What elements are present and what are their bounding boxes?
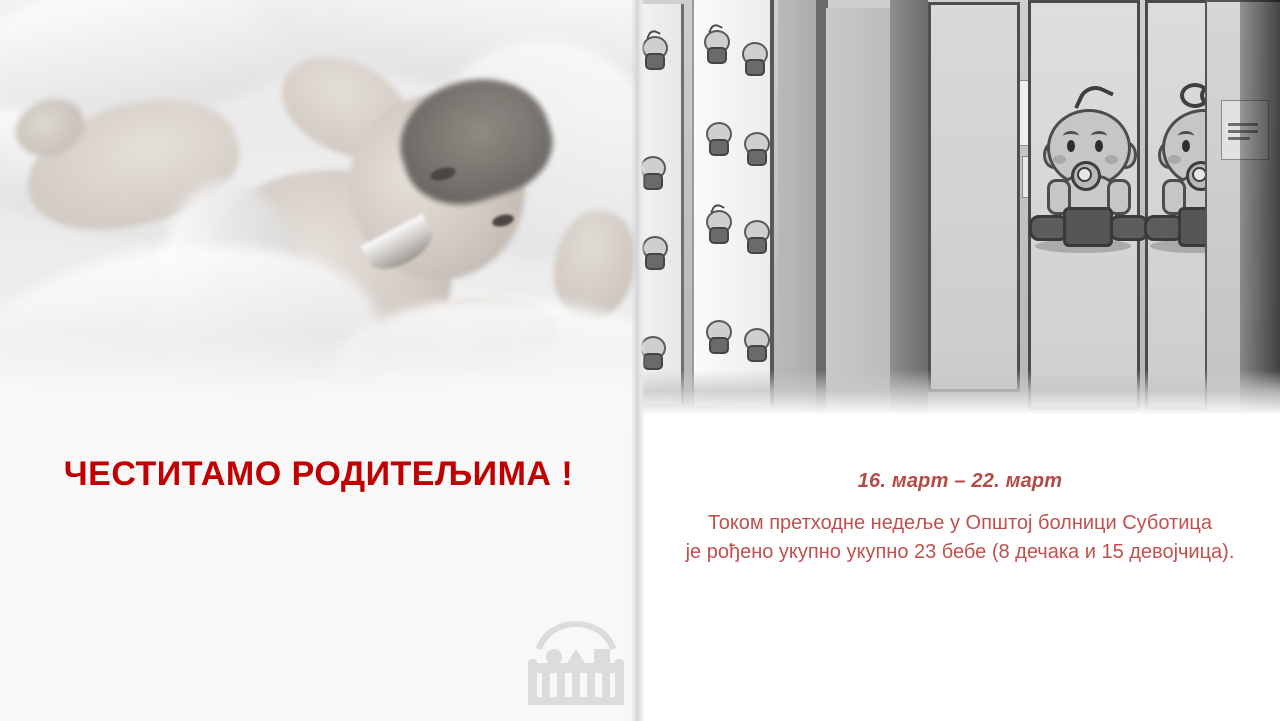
right-panel: 16. март – 22. март Током претходне неде… — [640, 0, 1280, 721]
wall-section — [826, 8, 890, 412]
door-panel-baby-boy — [1028, 0, 1140, 410]
slide-root: ЧЕСТИТАМО РОДИТЕЉИМА ! — [0, 0, 1280, 721]
door-panel-plain — [928, 2, 1020, 392]
panel-divider — [631, 0, 645, 721]
weekly-report-caption: 16. март – 22. март Током претходне неде… — [640, 470, 1280, 567]
corridor-shadow — [1240, 0, 1280, 412]
report-line-1: Током претходне недеље у Општој болници … — [640, 509, 1280, 538]
wall-recess-dark — [890, 0, 928, 412]
date-range-label: 16. март – 22. март — [640, 470, 1280, 493]
wall-panel-illustrated — [640, 4, 684, 404]
crib-icon — [524, 615, 628, 705]
wall-panel-illustrated — [692, 0, 774, 406]
maternity-hallway-photo — [640, 0, 1280, 414]
congratulations-caption: ЧЕСТИТАМО РОДИТЕЉИМА ! — [0, 455, 637, 494]
newborn-baby-photo — [0, 0, 637, 425]
left-panel: ЧЕСТИТАМО РОДИТЕЉИМА ! — [0, 0, 637, 721]
congratulations-title: ЧЕСТИТАМО РОДИТЕЉИМА ! — [0, 455, 637, 494]
report-line-2: је рођено укупно укупно 23 бебе (8 дечак… — [640, 538, 1280, 567]
